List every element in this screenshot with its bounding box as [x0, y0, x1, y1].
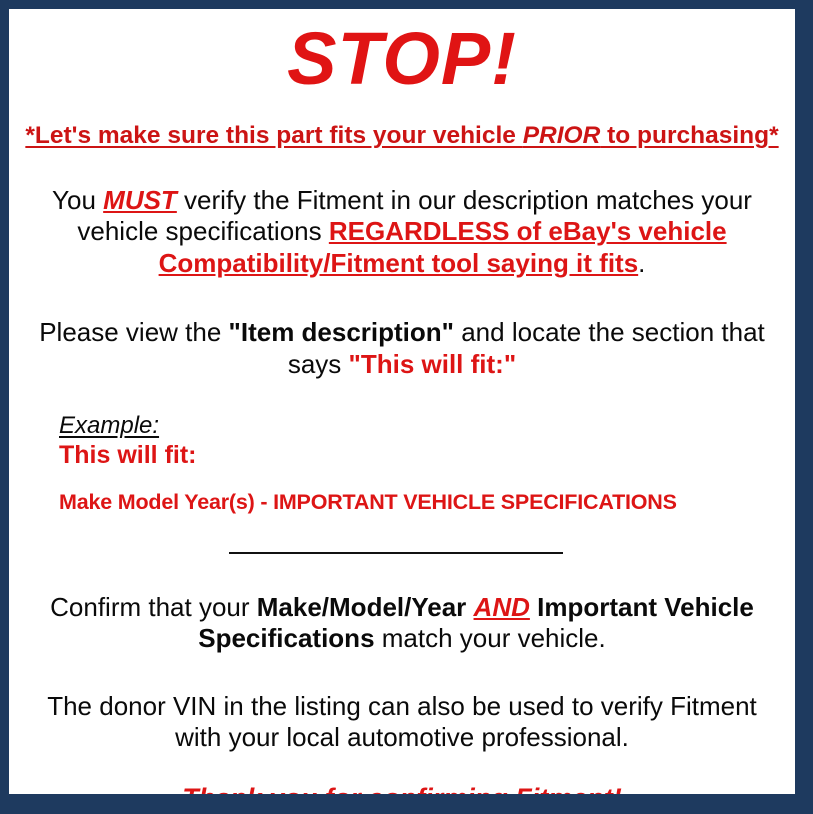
subtitle-banner: *Let's make sure this part fits your veh… — [9, 96, 795, 150]
confirm-part1: Confirm that your — [50, 592, 257, 622]
divider — [9, 515, 795, 559]
space-1 — [466, 592, 473, 622]
fitment-notice-card: STOP! *Let's make sure this part fits yo… — [9, 9, 795, 794]
paragraph-must-verify: You MUST verify the Fitment in our descr… — [9, 150, 795, 279]
example-label: Example: — [59, 412, 159, 440]
paragraph-item-description: Please view the "Item description" and l… — [9, 279, 795, 380]
quote-this-will-fit: "This will fit:" — [349, 349, 517, 379]
view-part1: Please view the — [39, 317, 228, 347]
divider-rule — [229, 552, 563, 554]
example-spec-line: Make Model Year(s) - IMPORTANT VEHICLE S… — [59, 469, 795, 515]
example-block: Example: This will fit: Make Model Year(… — [9, 380, 795, 515]
example-label-row: Example: — [59, 412, 795, 440]
must-part1: You — [52, 185, 103, 215]
paragraph-donor-vin: The donor VIN in the listing can also be… — [9, 655, 795, 754]
confirm-part2: match your vehicle. — [375, 623, 606, 653]
subtitle-prefix: *Let's make sure this part fits your veh… — [25, 122, 522, 149]
subtitle-suffix: to purchasing* — [600, 122, 778, 149]
emphasis-and: AND — [474, 592, 530, 622]
subtitle-emphasis-prior: PRIOR — [523, 122, 601, 149]
bold-make-model-year: Make/Model/Year — [257, 592, 467, 622]
closing-thank-you: Thank you for confirming Fitment! — [9, 754, 795, 794]
emphasis-must: MUST — [103, 185, 177, 215]
subtitle-underline-wrap: *Let's make sure this part fits your veh… — [25, 122, 778, 149]
example-this-will-fit: This will fit: — [59, 440, 795, 470]
quote-item-description: "Item description" — [229, 317, 454, 347]
page-title: STOP! — [9, 9, 795, 96]
paragraph-confirm-match: Confirm that your Make/Model/Year AND Im… — [9, 559, 795, 655]
must-part3: . — [638, 248, 645, 278]
